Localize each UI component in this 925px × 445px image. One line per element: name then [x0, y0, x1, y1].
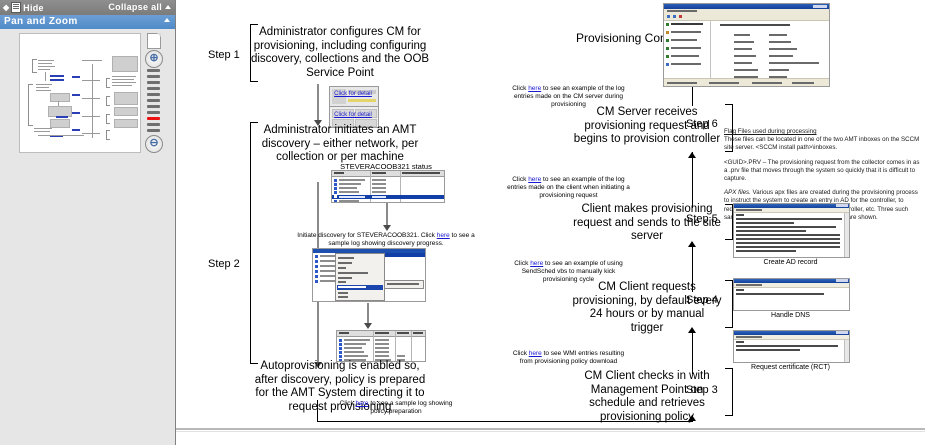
- client-log-annotation: Click here to see an example of the log …: [506, 176, 631, 200]
- arrow-up-icon: [688, 152, 696, 158]
- panel-title: Pan and Zoom: [4, 16, 78, 27]
- zoom-tick[interactable]: [147, 105, 160, 108]
- thumb-connector: [92, 64, 93, 138]
- thumb-text: [38, 66, 55, 67]
- screenshot-system-status-console[interactable]: [663, 3, 830, 87]
- connector-step1-step2: [317, 84, 319, 122]
- thumb-text: [112, 76, 136, 77]
- step-2a-text: Administrator initiates an AMT discovery…: [250, 124, 430, 165]
- thumb-bracket: [106, 96, 110, 106]
- screenshot-discovery-result[interactable]: [336, 330, 426, 362]
- flow-diagram: Step 1 Administrator configures CM for p…: [176, 0, 925, 427]
- step-3-text: CM Client checks in with Management Poin…: [572, 370, 722, 424]
- connector-context: [367, 303, 369, 325]
- thumb-text: [38, 60, 54, 61]
- clientlog-link[interactable]: here: [528, 176, 541, 183]
- connector-step3-bottom: [692, 415, 693, 422]
- notes-p3-italic: APX files.: [724, 189, 751, 196]
- zoom-tick-current[interactable]: [147, 117, 160, 120]
- screenshot-root: ◆ Hide Collapse all Pan and Zoom: [0, 0, 925, 445]
- thumb-connector: [38, 135, 84, 136]
- zoom-tick[interactable]: [147, 123, 160, 126]
- panel-top-toolbar: ◆ Hide Collapse all: [0, 0, 175, 15]
- wmi-link[interactable]: here: [529, 350, 542, 357]
- step-4-bracket: [725, 280, 733, 328]
- thumb-text: [82, 116, 100, 117]
- thumb-text: [82, 133, 100, 134]
- panel-collapse-icon[interactable]: [164, 18, 170, 22]
- thumb-link: [72, 112, 80, 114]
- connector-step3-step4: [692, 332, 693, 374]
- notes-heading: Flag Files used during processing: [724, 128, 817, 135]
- zoom-tick[interactable]: [147, 93, 160, 96]
- zoom-tick[interactable]: [147, 99, 160, 102]
- thumb-link: [72, 76, 80, 78]
- pan-and-zoom-header[interactable]: Pan and Zoom: [0, 15, 175, 29]
- thumb-screenshot: [114, 119, 138, 128]
- caption-create-ad-record: Create AD record: [733, 259, 848, 266]
- step-2-label: Step 2: [208, 258, 240, 270]
- thumb-text: [34, 131, 50, 132]
- notes-p2: <GUID>.PRV – The provisioning request fr…: [724, 159, 919, 182]
- document-thumbnail[interactable]: [19, 33, 141, 153]
- wmi-pre: Click: [513, 350, 529, 357]
- step-1-text: Administrator configures CM for provisio…: [250, 26, 430, 80]
- collapse-all-label: Collapse all: [108, 2, 162, 12]
- click-for-detail-link-1[interactable]: Click for detail: [329, 90, 377, 98]
- context-menu[interactable]: [335, 253, 385, 301]
- step-5-label: Step 5: [686, 213, 718, 225]
- expand-marker-icon: ◆: [3, 4, 9, 12]
- hide-label: Hide: [23, 3, 44, 13]
- thumb-text: [36, 84, 52, 85]
- collapse-all-button[interactable]: Collapse all: [108, 2, 171, 12]
- thumb-link: [56, 116, 68, 118]
- step-3-label: Step 3: [686, 384, 718, 396]
- connector-step5-step6: [692, 152, 693, 208]
- thumb-screenshot: [50, 119, 70, 128]
- thumb-screenshot: [50, 93, 70, 102]
- thumb-text: [34, 128, 52, 129]
- sendsched-pre: Click: [514, 260, 530, 267]
- thumb-text: [38, 63, 52, 64]
- zoom-slider[interactable]: ⊕ ⊖: [143, 33, 165, 153]
- screenshot-discovery-status[interactable]: [331, 170, 445, 203]
- zoom-tick[interactable]: [147, 87, 160, 90]
- thumb-connector: [45, 72, 46, 81]
- cmlog-pre: Click: [512, 85, 528, 92]
- zoom-tick[interactable]: [147, 75, 160, 78]
- arrow-down-icon: [364, 323, 372, 329]
- thumb-link: [72, 129, 80, 131]
- screenshot-create-ad-record[interactable]: [733, 203, 850, 258]
- thumb-link: [72, 94, 80, 96]
- thumb-text: [112, 85, 132, 86]
- zoom-out-button[interactable]: ⊖: [145, 135, 163, 153]
- thumb-bracket: [28, 84, 33, 126]
- discovery-log-link[interactable]: here: [437, 232, 450, 239]
- thumb-text: [38, 69, 50, 70]
- step-3-bracket: [725, 368, 733, 416]
- policy-pre: Click: [340, 400, 356, 407]
- click-for-detail-link-2[interactable]: Click for detail: [329, 111, 377, 119]
- thumb-text: [82, 60, 102, 61]
- arrow-down-icon: [383, 225, 391, 231]
- connector-discovery: [386, 203, 388, 227]
- zoom-tick[interactable]: [147, 111, 160, 114]
- notes-p1: These files can be located in one of the…: [724, 136, 919, 151]
- context-submenu[interactable]: [384, 280, 424, 289]
- screenshot-context-menu[interactable]: [312, 248, 426, 302]
- hide-panel-button[interactable]: ◆ Hide: [3, 2, 44, 13]
- cmlog-link[interactable]: here: [528, 85, 541, 92]
- zoom-in-button[interactable]: ⊕: [145, 50, 163, 68]
- thumb-bracket: [32, 59, 37, 73]
- thumb-text: [82, 98, 100, 99]
- page-bottom-divider: [176, 428, 925, 430]
- document-canvas: Step 1 Administrator configures CM for p…: [176, 0, 925, 445]
- panel-body: ⊕ ⊖: [0, 29, 175, 445]
- discovery-log-annotation: Initiate discovery for STEVERACOOB321. C…: [296, 232, 476, 248]
- panel-toggle-icon: [11, 2, 21, 13]
- chevron-up-icon: [165, 5, 171, 9]
- policy-link[interactable]: here: [356, 400, 369, 407]
- zoom-tick[interactable]: [147, 81, 160, 84]
- thumb-text: [112, 79, 134, 80]
- page-bottom-divider-2: [176, 431, 925, 432]
- caption-request-certificate: Request certificate (RCT): [733, 364, 848, 371]
- caption-handle-dns: Handle DNS: [733, 312, 848, 319]
- pan-and-zoom-panel: ◆ Hide Collapse all Pan and Zoom: [0, 0, 176, 445]
- policy-annotation: Click here to see a sample log showing p…: [331, 400, 461, 416]
- thumb-link: [50, 75, 64, 77]
- connector-bottom-vertical: [317, 400, 318, 422]
- thumb-text: [82, 80, 100, 81]
- step-1-label: Step 1: [208, 49, 240, 61]
- wmi-annotation: Click here to see WMI entries resulting …: [506, 350, 631, 366]
- step-4-text: CM Client requests provisioning, by defa…: [572, 281, 722, 335]
- discovery-log-pre: Initiate discovery for STEVERACOOB321. C…: [297, 232, 436, 239]
- thumb-text: [36, 87, 49, 88]
- thumb-bracket: [106, 130, 110, 140]
- thumb-bracket: [106, 114, 110, 124]
- clientlog-pre: Click: [512, 176, 528, 183]
- step-4-label: Step 4: [686, 294, 718, 306]
- step-6-label: Step 6: [686, 118, 718, 130]
- screenshot-request-certificate[interactable]: [733, 330, 850, 363]
- thumb-text: [112, 82, 136, 83]
- thumb-screenshot: [114, 107, 138, 116]
- thumb-screenshot: [112, 56, 138, 72]
- thumb-link: [50, 79, 64, 81]
- zoom-tick[interactable]: [147, 69, 160, 72]
- thumb-text: [36, 90, 51, 91]
- zoom-tick[interactable]: [147, 129, 160, 132]
- policy-post: to see a sample log showing policy prepa…: [369, 400, 453, 415]
- sendsched-link[interactable]: here: [530, 260, 543, 267]
- thumb-bracket: [106, 78, 110, 88]
- thumb-screenshot: [114, 92, 138, 105]
- screenshot-handle-dns[interactable]: [733, 278, 850, 311]
- fit-page-icon[interactable]: [147, 33, 161, 49]
